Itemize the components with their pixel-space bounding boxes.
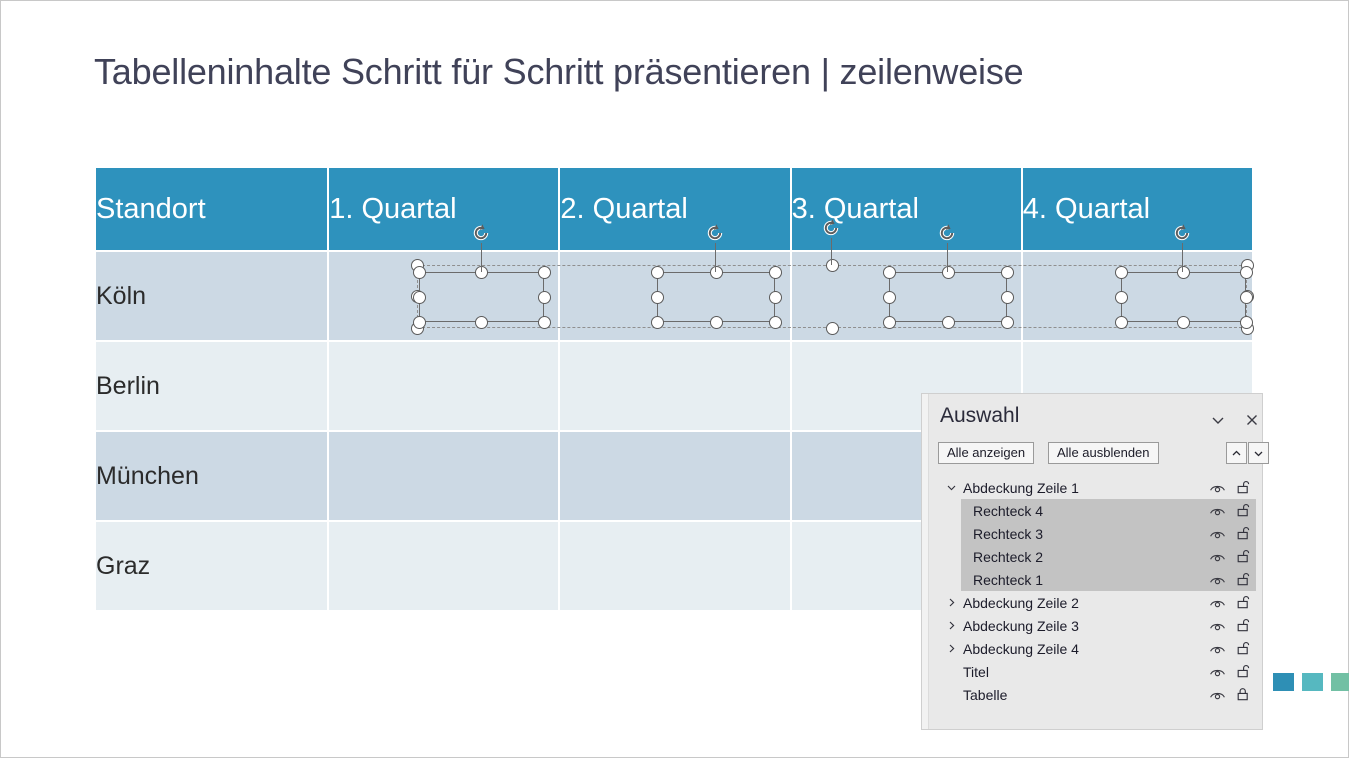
chevron-right-icon[interactable]: [942, 642, 960, 655]
group-resize-handle[interactable]: [826, 259, 839, 272]
rechteck-4-resize-handle[interactable]: [1240, 316, 1253, 329]
selection-pane-title: Auswahl: [940, 404, 1019, 428]
lock-open-icon[interactable]: [1230, 526, 1256, 541]
rechteck-2-resize-handle[interactable]: [769, 291, 782, 304]
chevron-down-icon[interactable]: [942, 481, 960, 494]
rechteck-2-resize-handle[interactable]: [710, 316, 723, 329]
eye-icon[interactable]: [1204, 642, 1230, 656]
lock-open-icon[interactable]: [1230, 480, 1256, 495]
rechteck-3-resize-handle[interactable]: [942, 316, 955, 329]
hide-all-button[interactable]: Alle ausblenden: [1048, 442, 1159, 464]
table-cell-value: [560, 432, 789, 520]
table-header-cell-standort: Standort: [96, 168, 327, 250]
rechteck-3-resize-handle[interactable]: [883, 291, 896, 304]
eye-icon[interactable]: [1204, 619, 1230, 633]
lock-open-icon[interactable]: [1230, 641, 1256, 656]
lock-open-icon[interactable]: [1230, 664, 1256, 679]
accent-square-teal: [1302, 673, 1323, 691]
rechteck-1-resize-handle[interactable]: [413, 266, 426, 279]
table-cell-value: [560, 252, 789, 340]
table-cell-value: [329, 522, 558, 610]
chevron-down-icon[interactable]: [1206, 408, 1230, 432]
rechteck-4-resize-handle[interactable]: [1177, 316, 1190, 329]
rechteck-1-resize-handle[interactable]: [538, 266, 551, 279]
rechteck-4-resize-handle[interactable]: [1240, 291, 1253, 304]
rechteck-2-resize-handle[interactable]: [710, 266, 723, 279]
table-cell-value: [329, 252, 558, 340]
selection-pane-item[interactable]: Tabelle: [930, 683, 1256, 706]
table-cell-value: [329, 342, 558, 430]
table-row: Köln: [96, 252, 1252, 340]
rotate-handle-shape-1[interactable]: [471, 223, 491, 243]
rechteck-4-resize-handle[interactable]: [1115, 316, 1128, 329]
selection-pane-item[interactable]: Abdeckung Zeile 1: [930, 476, 1256, 499]
table-cell-location: Graz: [96, 522, 327, 610]
rechteck-2-resize-handle[interactable]: [769, 316, 782, 329]
chevron-down-icon[interactable]: [1248, 442, 1269, 464]
rechteck-1-resize-handle[interactable]: [538, 316, 551, 329]
rechteck-1-resize-handle[interactable]: [538, 291, 551, 304]
table-cell-location: Berlin: [96, 342, 327, 430]
selection-pane-item-label: Abdeckung Zeile 3: [963, 618, 1204, 634]
chevron-right-icon[interactable]: [942, 619, 960, 632]
selection-pane-item-label: Rechteck 2: [973, 549, 1204, 565]
table-header-cell-q1: 1. Quartal: [329, 168, 558, 250]
lock-closed-icon[interactable]: [1230, 687, 1256, 702]
rechteck-4-resize-handle[interactable]: [1240, 266, 1253, 279]
eye-icon[interactable]: [1204, 596, 1230, 610]
table-cell-location: Köln: [96, 252, 327, 340]
rechteck-1-resize-handle[interactable]: [475, 266, 488, 279]
rechteck-3-resize-handle[interactable]: [883, 266, 896, 279]
accent-square-blue: [1273, 673, 1294, 691]
table-cell-value: [1023, 252, 1252, 340]
pane-dock-strip: [922, 394, 929, 729]
table-header-cell-q2: 2. Quartal: [560, 168, 789, 250]
rechteck-3-resize-handle[interactable]: [1001, 291, 1014, 304]
lock-open-icon[interactable]: [1230, 503, 1256, 518]
page-title: Tabelleninhalte Schritt für Schritt präs…: [94, 51, 1194, 93]
eye-icon[interactable]: [1204, 481, 1230, 495]
rechteck-2-resize-handle[interactable]: [651, 266, 664, 279]
rechteck-4-resize-handle[interactable]: [1115, 291, 1128, 304]
rotate-handle-group[interactable]: [821, 218, 841, 238]
rechteck-3-resize-handle[interactable]: [1001, 316, 1014, 329]
rotate-handle-shape-2[interactable]: [705, 223, 725, 243]
selection-pane-item[interactable]: Rechteck 3: [961, 522, 1256, 545]
selection-pane-item-label: Abdeckung Zeile 2: [963, 595, 1204, 611]
lock-open-icon[interactable]: [1230, 572, 1256, 587]
eye-icon[interactable]: [1204, 550, 1230, 564]
rechteck-3-resize-handle[interactable]: [1001, 266, 1014, 279]
lock-open-icon[interactable]: [1230, 595, 1256, 610]
selection-pane-item[interactable]: Abdeckung Zeile 3: [930, 614, 1256, 637]
rotate-handle-shape-3[interactable]: [937, 223, 957, 243]
selection-pane-item[interactable]: Rechteck 2: [961, 545, 1256, 568]
selection-pane-toolbar: Alle anzeigen Alle ausblenden: [938, 442, 1260, 466]
table-cell-value: [329, 432, 558, 520]
table-cell-value: [560, 522, 789, 610]
rechteck-3-resize-handle[interactable]: [942, 266, 955, 279]
selection-pane: Auswahl Alle anzeigen Alle ausblenden Ab…: [921, 393, 1263, 730]
selection-pane-item-label: Titel: [963, 664, 1204, 680]
table-header-row: Standort 1. Quartal 2. Quartal 3. Quarta…: [96, 168, 1252, 250]
rechteck-4-resize-handle[interactable]: [1115, 266, 1128, 279]
selection-pane-list: Abdeckung Zeile 1Rechteck 4Rechteck 3Rec…: [930, 476, 1256, 721]
rechteck-2-resize-handle[interactable]: [769, 266, 782, 279]
rechteck-1-resize-handle[interactable]: [413, 291, 426, 304]
lock-open-icon[interactable]: [1230, 549, 1256, 564]
close-icon[interactable]: [1240, 408, 1264, 432]
selection-pane-item-label: Rechteck 4: [973, 503, 1204, 519]
chevron-right-icon[interactable]: [942, 596, 960, 609]
rechteck-3-resize-handle[interactable]: [883, 316, 896, 329]
table-header-cell-q4: 4. Quartal: [1023, 168, 1252, 250]
eye-icon[interactable]: [1204, 527, 1230, 541]
selection-pane-item-label: Rechteck 1: [973, 572, 1204, 588]
eye-icon[interactable]: [1204, 504, 1230, 518]
selection-pane-item-label: Rechteck 3: [973, 526, 1204, 542]
rotate-handle-shape-4[interactable]: [1172, 223, 1192, 243]
show-all-button[interactable]: Alle anzeigen: [938, 442, 1034, 464]
selection-pane-item[interactable]: Titel: [930, 660, 1256, 683]
lock-open-icon[interactable]: [1230, 618, 1256, 633]
eye-icon[interactable]: [1204, 665, 1230, 679]
chevron-up-icon[interactable]: [1226, 442, 1247, 464]
table-cell-location: München: [96, 432, 327, 520]
selection-pane-item[interactable]: Abdeckung Zeile 4: [930, 637, 1256, 660]
eye-icon[interactable]: [1204, 688, 1230, 702]
selection-pane-item-label: Abdeckung Zeile 4: [963, 641, 1204, 657]
selection-pane-item[interactable]: Rechteck 1: [961, 568, 1256, 591]
group-resize-handle[interactable]: [826, 322, 839, 335]
rechteck-1-resize-handle[interactable]: [475, 316, 488, 329]
selection-pane-item-label: Abdeckung Zeile 1: [963, 480, 1204, 496]
accent-square-green: [1331, 673, 1349, 691]
accent-square-group: [1273, 673, 1349, 691]
rechteck-4-resize-handle[interactable]: [1177, 266, 1190, 279]
rechteck-2-resize-handle[interactable]: [651, 316, 664, 329]
selection-pane-item[interactable]: Abdeckung Zeile 2: [930, 591, 1256, 614]
selection-pane-item[interactable]: Rechteck 4: [961, 499, 1256, 522]
eye-icon[interactable]: [1204, 573, 1230, 587]
presentation-slide: Tabelleninhalte Schritt für Schritt präs…: [0, 0, 1349, 758]
selection-pane-header: Auswahl: [940, 404, 1258, 438]
table-cell-value: [560, 342, 789, 430]
selection-pane-item-label: Tabelle: [963, 687, 1204, 703]
rechteck-2-resize-handle[interactable]: [651, 291, 664, 304]
rechteck-1-resize-handle[interactable]: [413, 316, 426, 329]
